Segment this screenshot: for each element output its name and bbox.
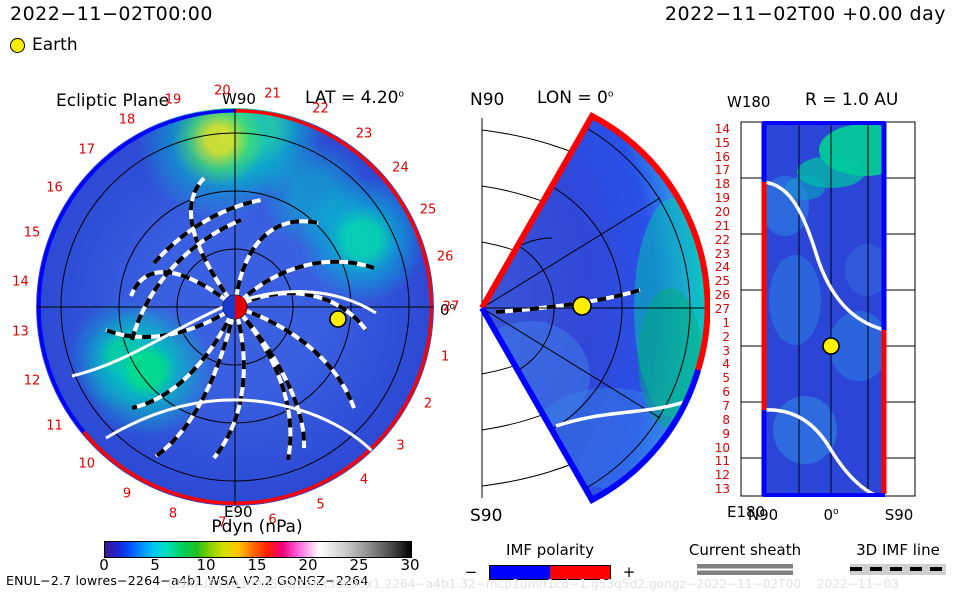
ecliptic-rim-tick: 14 (12, 275, 29, 288)
ecliptic-rim-tick: 27 (443, 301, 460, 314)
radial-y-tick: 22 (715, 234, 730, 246)
radial-plot (735, 110, 950, 510)
earth-marker-icon (10, 38, 25, 53)
radial-y-tick: 27 (715, 303, 730, 315)
radial-y-tick: 5 (722, 372, 730, 384)
radial-cut-heatmap[interactable] (735, 110, 950, 510)
ecliptic-rim-tick: 26 (437, 251, 454, 264)
ecliptic-rim-tick: 22 (312, 102, 329, 115)
ecliptic-lat-superscript: o (398, 89, 404, 99)
header-timestamp-left: 2022−11−02T00:00 (10, 5, 213, 24)
radial-y-tick: 15 (715, 137, 730, 149)
ecliptic-rim-tick: 19 (165, 94, 182, 107)
ecliptic-rim-tick: 4 (360, 474, 368, 487)
radial-y-tick: 25 (715, 275, 730, 287)
radial-y-tick: 21 (715, 220, 730, 232)
radial-y-tick: 26 (715, 289, 730, 301)
colorbar-tick: 5 (150, 558, 160, 573)
meridional-lon-superscript: o (608, 89, 614, 99)
header-timestamp-right: 2022−11−02T00 +0.00 day (665, 5, 946, 24)
earth-legend: Earth (10, 37, 78, 54)
meridional-bottom-label: S90 (470, 508, 502, 525)
earth-legend-label: Earth (32, 37, 78, 54)
ecliptic-plane-heatmap[interactable] (36, 108, 434, 506)
ecliptic-rim-tick: 16 (46, 182, 63, 195)
colorbar-title: Pdyn (nPa) (104, 519, 410, 536)
ecliptic-rim-tick: 9 (123, 488, 131, 501)
ecliptic-rim-tick: 21 (264, 88, 281, 101)
ecliptic-rim-tick: 25 (420, 204, 437, 217)
current-sheath-title: Current sheath (660, 543, 830, 558)
radial-y-tick: 23 (715, 248, 730, 260)
radial-y-tick: 13 (715, 483, 730, 495)
radial-x-tick: S90 (885, 508, 914, 523)
current-sheath-legend: Current sheath (660, 543, 830, 575)
radial-y-tick: 20 (715, 206, 730, 218)
current-sheath-swatch (697, 564, 793, 575)
radial-y-tick: 9 (722, 428, 730, 440)
colorbar-tick: 30 (400, 558, 419, 573)
radial-y-tick: 19 (715, 192, 730, 204)
ecliptic-rim-tick: 23 (356, 127, 373, 140)
imf-polarity-title: IMF polarity (455, 543, 645, 558)
colorbar-tick: 15 (247, 558, 266, 573)
radial-x-tick: N90 (748, 508, 778, 523)
imf-line-title: 3D IMF line (838, 543, 958, 558)
radial-y-tick: 14 (715, 123, 730, 135)
ecliptic-rim-tick: 17 (78, 143, 95, 156)
radial-y-tick: 4 (722, 358, 730, 370)
meridional-plot (460, 108, 710, 508)
radial-y-tick: 7 (722, 400, 730, 412)
ecliptic-panel-title: Ecliptic Plane (56, 93, 169, 110)
meridional-top-label: N90 (470, 92, 504, 109)
footer-watermark: UNIQUE1103090530/256x30x90x1.2264−a4b1.3… (168, 578, 899, 590)
radial-x-tick: 0o (823, 508, 838, 523)
radial-y-tick: 6 (722, 386, 730, 398)
ecliptic-rim-tick: 12 (24, 374, 41, 387)
radial-y-tick: 11 (715, 455, 730, 467)
radial-y-tick: 10 (715, 442, 730, 454)
ecliptic-rim-tick: 3 (396, 439, 404, 452)
radial-y-tick: 17 (715, 164, 730, 176)
radial-y-tick: 24 (715, 261, 730, 273)
imf-line-swatch (850, 564, 946, 575)
radial-y-tick: 1 (722, 317, 730, 329)
meridional-lon-value: LON = 0 (537, 88, 608, 108)
colorbar-tick: 0 (99, 558, 109, 573)
ecliptic-rim-tick: 1 (441, 350, 449, 363)
ecliptic-rim-tick: 11 (46, 419, 63, 432)
radial-y-tick: 8 (722, 414, 730, 426)
ecliptic-rim-tick: 15 (24, 227, 41, 240)
imf-polarity-legend: IMF polarity − + (455, 543, 645, 581)
ecliptic-rim-tick: 13 (12, 326, 29, 339)
meridional-heatmap[interactable] (460, 108, 710, 508)
ecliptic-overlay (36, 108, 434, 506)
colorbar-tick: 20 (298, 558, 317, 573)
imf-line-legend: 3D IMF line (838, 543, 958, 575)
ecliptic-rim-tick: 24 (392, 162, 409, 175)
radial-y-tick: 12 (715, 469, 730, 481)
radial-x-tick-superscript: o (833, 507, 839, 517)
ecliptic-rim-tick: 20 (214, 85, 231, 98)
radial-y-tick: 3 (722, 345, 730, 357)
ecliptic-rim-tick: 5 (316, 499, 324, 512)
radial-panel-title: R = 1.0 AU (805, 92, 898, 109)
radial-y-tick: 16 (715, 151, 730, 163)
meridional-lon-label: LON = 0o (537, 90, 613, 107)
radial-y-tick: 2 (722, 331, 730, 343)
ecliptic-rim-tick: 2 (424, 397, 432, 410)
colorbar-container: Pdyn (nPa) 051015202530 (104, 541, 410, 558)
radial-y-tick: 18 (715, 178, 730, 190)
ecliptic-rim-tick: 18 (119, 113, 136, 126)
colorbar-tick: 25 (349, 558, 368, 573)
radial-top-left-label: W180 (727, 95, 770, 110)
colorbar-tick: 10 (196, 558, 215, 573)
ecliptic-rim-tick: 10 (78, 458, 95, 471)
